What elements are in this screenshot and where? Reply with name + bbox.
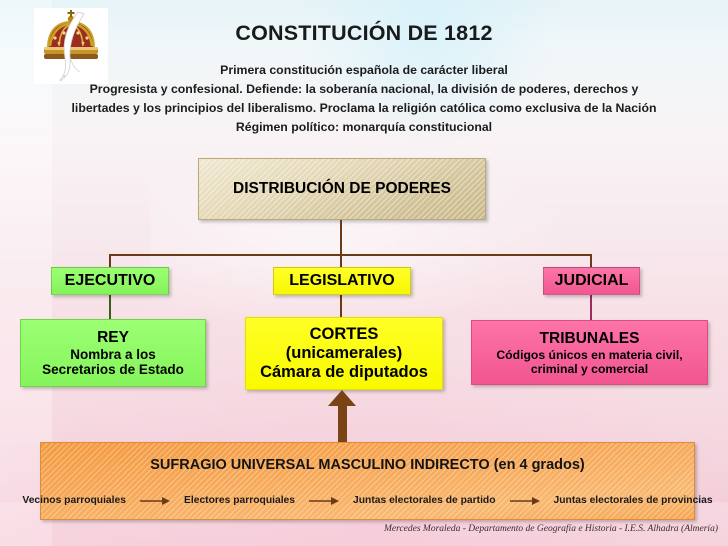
node-cortes-line-3: Cámara de diputados — [260, 363, 428, 382]
connector-horizontal-bar — [109, 254, 592, 256]
connector-judicial-to-tribunales — [590, 295, 592, 321]
arrow-right-icon-3 — [510, 496, 540, 506]
node-sufragio-universal: SUFRAGIO UNIVERSAL MASCULINO INDIRECTO (… — [40, 442, 695, 520]
footer-credit: Mercedes Moraleda - Departamento de Geog… — [0, 524, 718, 534]
node-ejecutivo-label: EJECUTIVO — [65, 272, 156, 290]
subtitle-line-2: Progresista y confesional. Defiende: la … — [0, 82, 728, 96]
node-rey: REY Nombra a los Secretarios de Estado — [20, 319, 206, 387]
connector-ejecutivo-to-rey — [109, 295, 111, 320]
connector-root-stem — [340, 220, 342, 255]
node-cortes-line-1: CORTES — [310, 325, 379, 344]
node-tribunales-line-2: Códigos únicos en materia civil, — [496, 348, 682, 362]
node-judicial: JUDICIAL — [543, 267, 640, 295]
connector-drop-judicial — [590, 254, 592, 268]
node-rey-line-2: Nombra a los — [70, 347, 156, 362]
node-ejecutivo: EJECUTIVO — [51, 267, 169, 295]
chain-step-3: Juntas electorales de partido — [353, 495, 496, 506]
arrow-up-shaft — [338, 404, 347, 444]
subtitle-line-1: Primera constitución española de carácte… — [0, 63, 728, 77]
node-judicial-label: JUDICIAL — [555, 272, 629, 290]
subtitle-line-4: Régimen político: monarquía constitucion… — [0, 120, 728, 134]
node-legislativo-label: LEGISLATIVO — [289, 272, 394, 290]
sufragio-chain: Vecinos parroquiales Electores parroquia… — [41, 495, 694, 506]
slide-canvas: CONSTITUCIÓN DE 1812 Primera constitució… — [0, 0, 728, 546]
node-tribunales: TRIBUNALES Códigos únicos en materia civ… — [471, 320, 708, 385]
node-distribucion-label: DISTRIBUCIÓN DE PODERES — [233, 180, 451, 198]
arrow-right-icon-2 — [309, 496, 339, 506]
node-cortes-line-2: (unicamerales) — [286, 344, 402, 363]
sufragio-title: SUFRAGIO UNIVERSAL MASCULINO INDIRECTO (… — [150, 457, 585, 473]
node-tribunales-line-1: TRIBUNALES — [540, 330, 640, 348]
connector-drop-legislativo — [340, 254, 342, 268]
node-distribucion-de-poderes: DISTRIBUCIÓN DE PODERES — [198, 158, 486, 220]
node-rey-line-3: Secretarios de Estado — [42, 362, 184, 377]
chain-step-1: Vecinos parroquiales — [22, 495, 126, 506]
node-rey-line-1: REY — [97, 329, 129, 347]
connector-drop-ejecutivo — [109, 254, 111, 268]
page-title: CONSTITUCIÓN DE 1812 — [0, 21, 728, 46]
connector-legislativo-to-cortes — [340, 295, 342, 318]
chain-step-2: Electores parroquiales — [184, 495, 295, 506]
node-legislativo: LEGISLATIVO — [273, 267, 411, 295]
chain-step-4: Juntas electorales de provincias — [554, 495, 713, 506]
arrow-right-icon-1 — [140, 496, 170, 506]
node-cortes: CORTES (unicamerales) Cámara de diputado… — [245, 317, 443, 390]
node-tribunales-line-3: criminal y comercial — [531, 362, 648, 376]
subtitle-line-3: libertades y los principios del liberali… — [0, 101, 728, 115]
